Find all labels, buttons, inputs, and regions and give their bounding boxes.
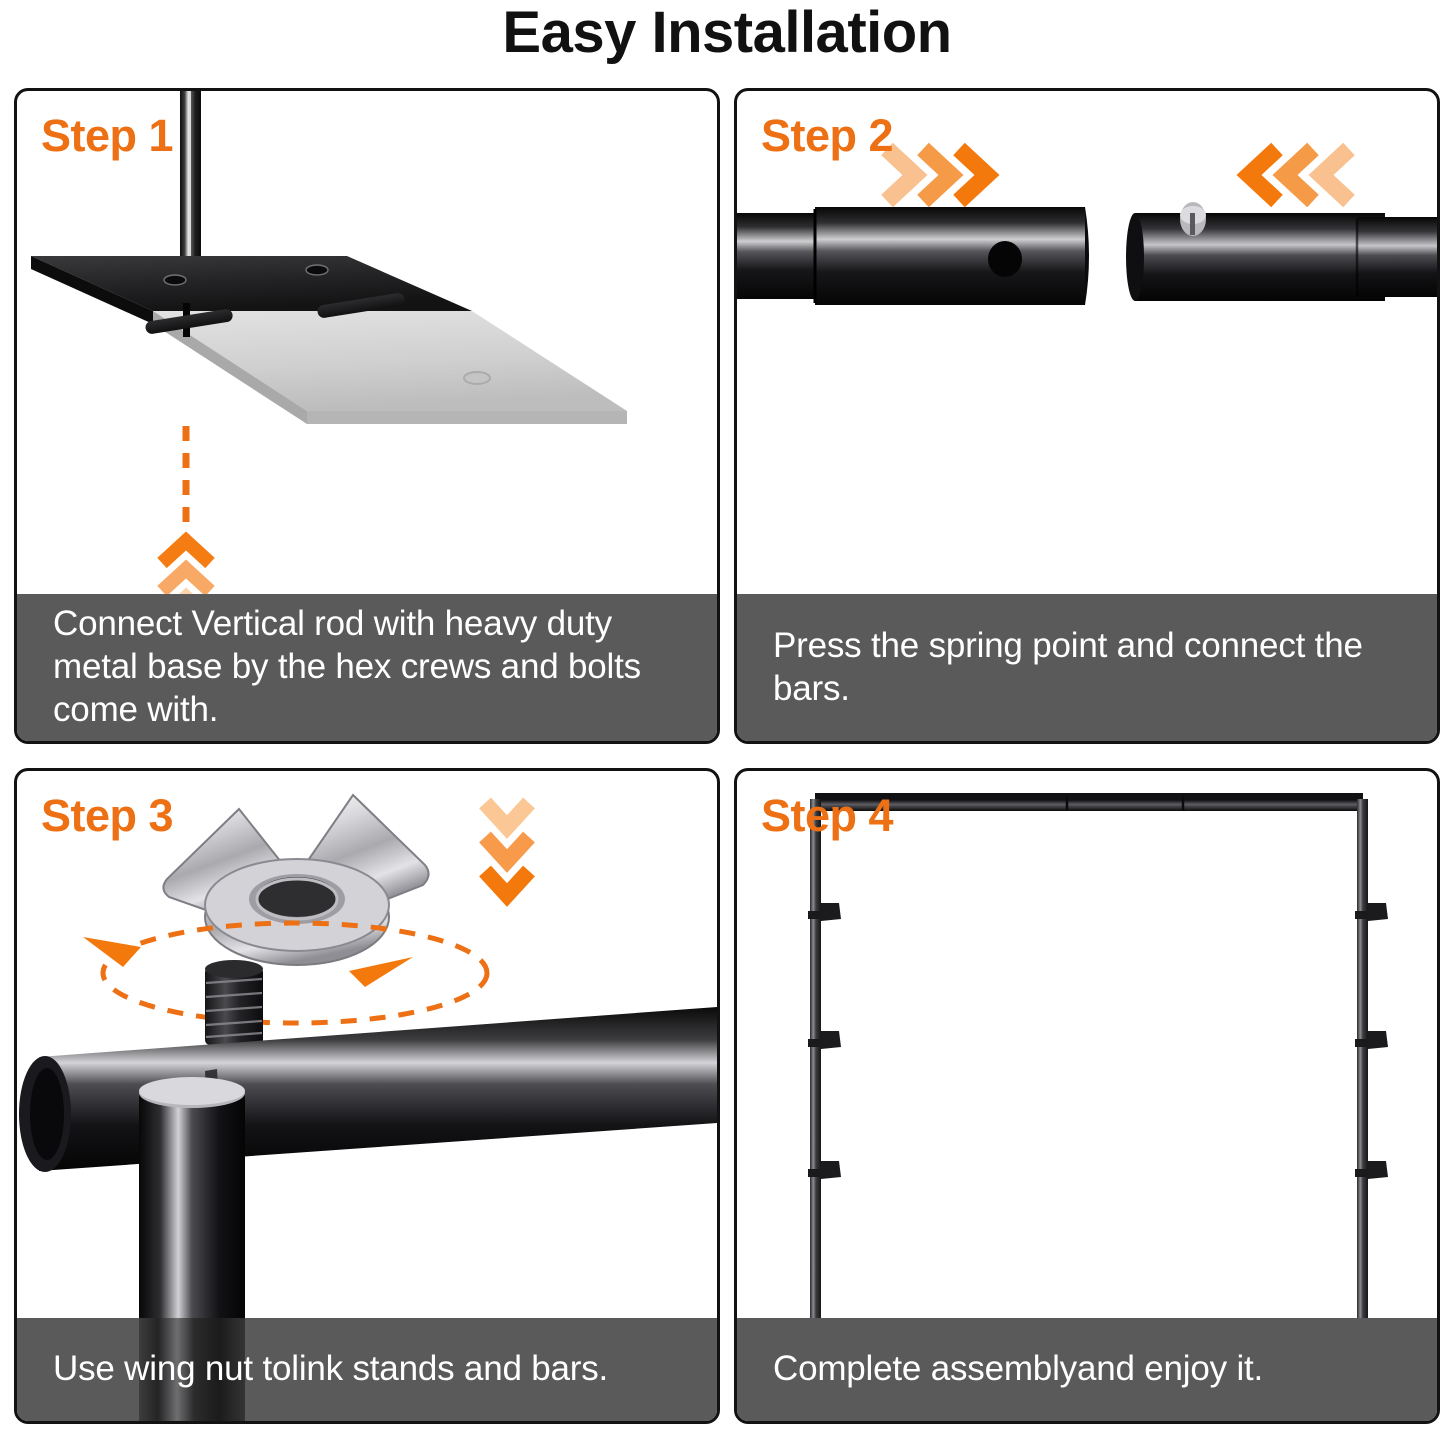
bolt-hole-gray-face-icon [464,372,490,384]
right-bar-with-spring-button [1126,202,1437,301]
step-panel-4: Step 4 [734,768,1440,1424]
right-telescoping-pole [1355,799,1388,1354]
crossbar-icon [19,1007,717,1172]
spring-hole-icon [988,241,1022,277]
left-bar-with-spring-hole [737,207,1089,305]
step-label-1: Step 1 [41,113,173,158]
step-label-4: Step 4 [761,793,893,838]
down-chevron-arrows [485,803,529,895]
step-panel-2: Step 2 [734,88,1440,744]
step-caption-2: Press the spring point and connect the b… [773,625,1401,710]
page-title: Easy Installation [0,0,1454,72]
left-chevron-arrows [1249,149,1349,201]
rotation-arrow-right [349,957,413,987]
right-chevron-arrows [887,149,987,201]
step-label-2: Step 2 [761,113,893,158]
step-caption-bar-2: Press the spring point and connect the b… [737,594,1437,741]
rotation-arrow-left [83,937,141,967]
left-telescoping-pole [808,799,841,1354]
steps-grid: Step 1 [14,88,1440,1424]
top-crossbar-icon [815,793,1363,811]
right-lock-clamps [1368,903,1388,1179]
step-caption-bar-1: Connect Vertical rod with heavy duty met… [17,594,717,741]
step-caption-3: Use wing nut tolink stands and bars. [53,1348,608,1391]
threaded-bolt-icon [205,960,263,1045]
left-lock-clamps [821,903,841,1179]
step-caption-4: Complete assemblyand enjoy it. [773,1348,1263,1391]
step-caption-bar-3: Use wing nut tolink stands and bars. [17,1318,717,1421]
spring-button-icon [1180,202,1206,236]
step-panel-3: Step 3 [14,768,720,1424]
wing-nut-icon [163,795,428,965]
base-plate-black-face [31,256,472,311]
step-panel-1: Step 1 [14,88,720,744]
step-caption-1: Connect Vertical rod with heavy duty met… [53,603,681,731]
step-caption-bar-4: Complete assemblyand enjoy it. [737,1318,1437,1421]
step-label-3: Step 3 [41,793,173,838]
